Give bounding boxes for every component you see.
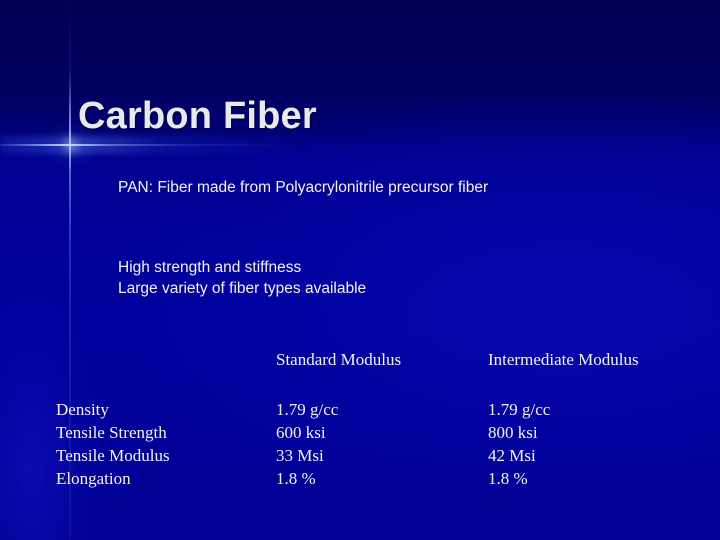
- cell-density-standard: 1.79 g/cc: [276, 400, 338, 420]
- cell-tensile-strength-standard: 600 ksi: [276, 423, 326, 443]
- column-header-standard-modulus: Standard Modulus: [276, 350, 401, 370]
- slide-canvas: Carbon Fiber PAN: Fiber made from Polyac…: [0, 0, 720, 540]
- cell-tensile-modulus-standard: 33 Msi: [276, 446, 324, 466]
- table-row: Elongation 1.8 % 1.8 %: [0, 469, 720, 492]
- cell-elongation-intermediate: 1.8 %: [488, 469, 528, 489]
- specification-table: Standard Modulus Intermediate Modulus De…: [0, 350, 720, 376]
- crosshair-star-glow: [70, 145, 71, 146]
- cell-tensile-strength-intermediate: 800 ksi: [488, 423, 538, 443]
- column-header-intermediate-modulus: Intermediate Modulus: [488, 350, 639, 370]
- cell-density-intermediate: 1.79 g/cc: [488, 400, 550, 420]
- row-label-tensile-modulus: Tensile Modulus: [56, 446, 170, 466]
- table-body: Density 1.79 g/cc 1.79 g/cc Tensile Stre…: [0, 400, 720, 492]
- table-row: Density 1.79 g/cc 1.79 g/cc: [0, 400, 720, 423]
- body-paragraph-properties: High strength and stiffness Large variet…: [118, 257, 538, 299]
- row-label-elongation: Elongation: [56, 469, 131, 489]
- slide-title: Carbon Fiber: [78, 95, 317, 138]
- cell-tensile-modulus-intermediate: 42 Msi: [488, 446, 536, 466]
- row-label-tensile-strength: Tensile Strength: [56, 423, 167, 443]
- table-row: Tensile Strength 600 ksi 800 ksi: [0, 423, 720, 446]
- crosshair-horizontal-line: [0, 144, 290, 146]
- cell-elongation-standard: 1.8 %: [276, 469, 316, 489]
- body-paragraph-pan: PAN: Fiber made from Polyacrylonitrile p…: [118, 177, 588, 198]
- table-row: Tensile Modulus 33 Msi 42 Msi: [0, 446, 720, 469]
- table-header-row: Standard Modulus Intermediate Modulus: [0, 350, 720, 376]
- row-label-density: Density: [56, 400, 109, 420]
